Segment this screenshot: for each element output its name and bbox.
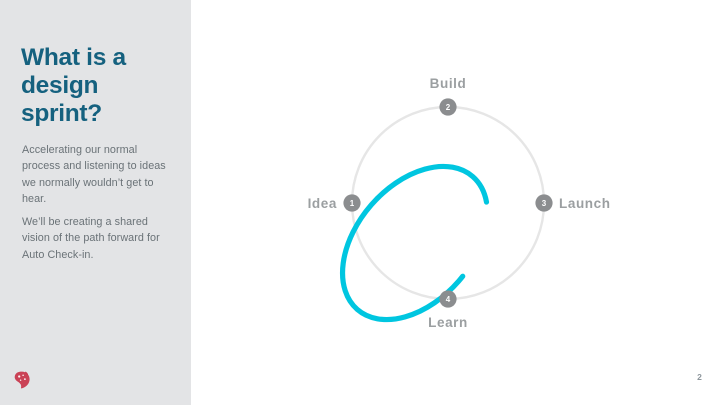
node-idea[interactable]: 1 Idea bbox=[308, 194, 361, 211]
sidebar-panel: What is a design sprint? Accelerating ou… bbox=[0, 0, 191, 405]
company-logo bbox=[12, 370, 32, 390]
node-build[interactable]: 2 Build bbox=[430, 76, 467, 116]
node-idea-number: 1 bbox=[350, 199, 355, 208]
node-launch-number: 3 bbox=[542, 199, 547, 208]
node-launch[interactable]: 3 Launch bbox=[535, 194, 610, 211]
node-learn-label: Learn bbox=[428, 315, 468, 330]
node-idea-label: Idea bbox=[308, 196, 337, 211]
body-paragraph-2: We’ll be creating a shared vision of the… bbox=[22, 214, 174, 263]
node-build-label: Build bbox=[430, 76, 467, 91]
node-launch-label: Launch bbox=[559, 196, 611, 211]
page-title: What is a design sprint? bbox=[21, 44, 171, 128]
body-paragraph-1: Accelerating our normal process and list… bbox=[22, 142, 174, 208]
design-sprint-cycle-diagram: 2 Build 1 Idea 3 Launch 4 Learn bbox=[255, 55, 685, 350]
iteration-loop bbox=[313, 139, 516, 348]
slide: What is a design sprint? Accelerating ou… bbox=[0, 0, 720, 405]
node-learn-number: 4 bbox=[446, 295, 451, 304]
node-learn[interactable]: 4 Learn bbox=[428, 290, 468, 330]
node-build-number: 2 bbox=[446, 103, 451, 112]
page-number: 2 bbox=[697, 372, 702, 382]
cycle-ring bbox=[352, 107, 544, 299]
